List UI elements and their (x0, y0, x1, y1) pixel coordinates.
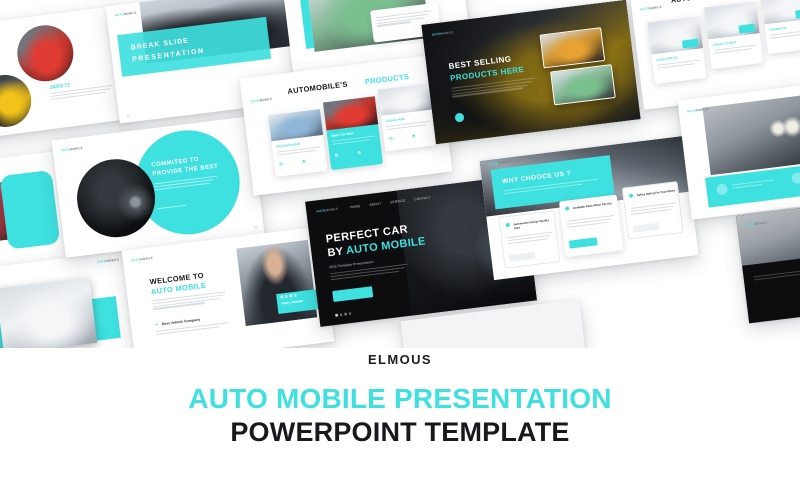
logo-mark: AUTOMOBILE (131, 256, 153, 263)
slide-title-line2-prefix: BY (327, 245, 347, 259)
product-card-label: Classic Auto (386, 117, 406, 123)
spec-icon-2: ◉ (412, 134, 416, 138)
slide-best-selling[interactable]: AUTOMOBILE BEST SELLING PRODUCTS HERE (421, 0, 640, 144)
body-text (753, 269, 800, 282)
page-number: 11 (127, 113, 131, 117)
product-card-label: City Automobile (276, 142, 301, 149)
slide-automobiles-products[interactable]: AUTOMOBILE'S PRODUCTS City Automobile ▤ … (240, 54, 453, 195)
logo-mark: AUTOMOBILE (97, 257, 119, 264)
feature-card-text (507, 232, 554, 246)
slide-title-line1: AUTOMOBILE'S (287, 80, 348, 96)
spec-icon-2: ◉ (302, 159, 306, 163)
spec-icon-1: ▤ (389, 136, 393, 140)
feature-card-button[interactable] (632, 223, 659, 233)
headline-primary: AUTO MOBILE PRESENTATION (0, 384, 800, 414)
feature-card-text (630, 202, 677, 216)
carousel-dots[interactable] (335, 312, 352, 317)
spec-icon-1: ▤ (279, 162, 283, 166)
car-card-text (657, 60, 701, 71)
slide-collage: PRODUCTS 3ARS 72 01 Our Product Best Mar… (0, 0, 800, 348)
car-card-text (713, 44, 757, 55)
slide-service-dark[interactable]: AUTOMOBILE (736, 197, 800, 324)
photo-red-scissor-doors (323, 96, 378, 130)
slide-about-customer[interactable]: ABOUT CUSTOMER AUTOMOBILE (677, 76, 800, 219)
feature-card-2[interactable]: ⬤ Available Parts Motor Service (559, 195, 623, 258)
photo-yellow-car (0, 72, 34, 130)
decor-cyan-rounded (0, 170, 60, 250)
car-card-label: Classic Car Best (712, 40, 736, 47)
spec-icon-2: ◉ (357, 150, 361, 154)
car-card-3[interactable]: Football Car (761, 0, 800, 54)
product-card-2[interactable]: Sport Car Best ▤ ◉ (323, 96, 383, 170)
feature-card-label: Available Parts Motor Service (573, 201, 615, 210)
badge-label: Best Vehicle Company (162, 318, 201, 327)
headline-secondary: POWERPOINT TEMPLATE (0, 418, 800, 448)
read-more-button[interactable] (332, 286, 373, 302)
slide-title-line2: PRODUCTS (364, 72, 409, 86)
nav-item-about[interactable]: ABOUT (369, 202, 381, 207)
feature-card-label: Safety Rating For Your Rides (637, 188, 677, 197)
product-card-label: Sport Car Best (331, 131, 354, 138)
feature-card-label: Automotive Design Quality Care (513, 217, 554, 230)
product-card-text (332, 135, 376, 146)
feature-card-3[interactable]: ⬤ Safety Rating For Your Rides (622, 181, 684, 239)
logo-mark: AUTOMOBILE (316, 207, 338, 214)
photo-businessman (236, 240, 317, 326)
logo-mark: AUTOMOBILE (61, 146, 83, 153)
car-card-1[interactable]: Luxury Full Car (647, 16, 706, 84)
photo-white-sportscar (0, 277, 97, 348)
screenshot-root: PRODUCTS 3ARS 72 01 Our Product Best Mar… (0, 0, 800, 500)
photo-car-1 (647, 16, 703, 54)
feature-card-text (566, 215, 615, 229)
photo-car-3 (761, 0, 800, 24)
photo-car-2 (704, 1, 760, 39)
photo-blue-car (268, 109, 323, 141)
feature-card-button[interactable] (569, 237, 598, 248)
product-card-text (277, 146, 321, 157)
card-badge-3 (795, 9, 800, 19)
feature-card-button[interactable] (509, 252, 536, 262)
car-card-label: Luxury Full Car (656, 55, 678, 62)
photo-classic-car (702, 94, 800, 175)
gear-icon: ⬤ (565, 206, 570, 211)
photo-white-car (378, 84, 433, 116)
slide-why-choose-us[interactable]: WHY CHOOCE US ? ⬤ Automotive Design Qual… (479, 136, 698, 280)
product-card-1[interactable]: City Automobile ▤ ◉ (268, 109, 327, 177)
pin-icon: ⬤ (505, 223, 510, 228)
product-card-text (386, 121, 430, 132)
car-card-label: Football Car (769, 26, 787, 32)
spec-icon-1: ▤ (334, 153, 338, 157)
check-icon: ✦ (155, 323, 159, 327)
feature-card-1[interactable]: ⬤ Automotive Design Quality Care (498, 210, 560, 268)
logo-mark: AUTOMOBILE (250, 97, 272, 104)
product-card-3[interactable]: Classic Auto ▤ ◉ (378, 84, 437, 152)
caption-block: ELMOUS AUTO MOBILE PRESENTATION POWERPOI… (0, 352, 800, 448)
brand-name: ELMOUS (0, 352, 800, 367)
logo-mark: AUTOMOBILE (114, 11, 136, 18)
nav-item-home[interactable]: HOME (350, 204, 361, 209)
page-number: 05 (254, 225, 258, 229)
car-card-2[interactable]: Classic Car Best (704, 1, 763, 69)
logo-mark: AUTOMOBILE (640, 5, 662, 12)
slide-thank-you[interactable]: 2022 THANK YOU FOR WATCHING AUTOMOBILE (0, 250, 140, 348)
shield-icon: ⬤ (629, 194, 634, 199)
photo-red-car (14, 22, 77, 85)
